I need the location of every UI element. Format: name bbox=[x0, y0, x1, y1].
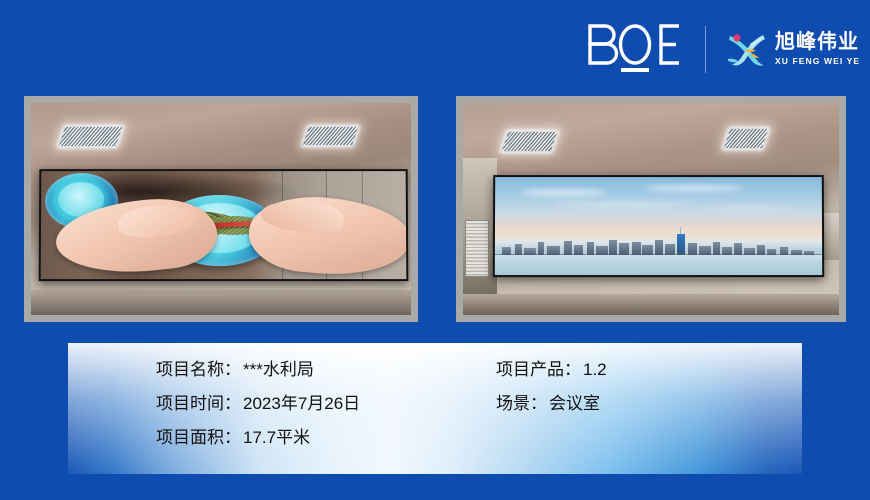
ceiling-light-icon bbox=[58, 126, 124, 147]
air-conditioner bbox=[465, 220, 490, 277]
room-floor bbox=[31, 290, 411, 315]
info-label: 场景： bbox=[496, 394, 547, 413]
photo-frame-left[interactable] bbox=[24, 96, 418, 322]
boe-wordmark-icon bbox=[585, 18, 685, 80]
screen-content-skyline bbox=[495, 177, 823, 274]
partner-name-cn: 旭峰伟业 bbox=[775, 31, 860, 53]
info-value: 17.7平米 bbox=[243, 428, 310, 447]
info-value: 2023年7月26日 bbox=[243, 394, 360, 413]
info-column-right: 项目产品：1.2 场景：会议室 bbox=[496, 359, 802, 474]
led-display-food-scene bbox=[31, 103, 411, 315]
info-label: 项目名称： bbox=[156, 360, 241, 379]
xufeng-bird-x-icon bbox=[724, 27, 768, 71]
tower-spire bbox=[680, 227, 681, 234]
screen-content-food bbox=[40, 171, 405, 279]
slide-canvas: 旭峰伟业 XU FENG WEI YE bbox=[0, 0, 870, 500]
boe-logo bbox=[585, 18, 685, 80]
logo-bar: 旭峰伟业 XU FENG WEI YE bbox=[585, 18, 847, 80]
led-screen bbox=[493, 175, 825, 276]
info-row: 项目面积：17.7平米 bbox=[156, 427, 496, 449]
logo-divider-icon bbox=[705, 26, 706, 73]
info-value: 会议室 bbox=[549, 394, 600, 413]
info-row: 项目产品：1.2 bbox=[496, 359, 802, 381]
info-value: 1.2 bbox=[583, 360, 607, 379]
ceiling-light-icon bbox=[723, 128, 769, 149]
info-row: 场景：会议室 bbox=[496, 393, 802, 415]
project-info-grid: 项目名称：***水利局 项目时间：2023年7月26日 项目面积：17.7平米 … bbox=[68, 343, 802, 474]
info-label: 项目产品： bbox=[496, 360, 581, 379]
info-label: 项目时间： bbox=[156, 394, 241, 413]
hand-right bbox=[246, 191, 408, 280]
partner-name-en: XU FENG WEI YE bbox=[775, 55, 860, 67]
info-value: ***水利局 bbox=[243, 360, 314, 379]
harbor-water bbox=[495, 255, 823, 275]
ceiling-light-icon bbox=[301, 126, 359, 146]
info-row: 项目时间：2023年7月26日 bbox=[156, 393, 496, 415]
led-display-skyline-scene bbox=[463, 103, 839, 315]
ceiling-light-icon bbox=[501, 131, 559, 152]
led-screen bbox=[38, 169, 408, 281]
info-row: 项目名称：***水利局 bbox=[156, 359, 496, 381]
photo-frame-right[interactable] bbox=[456, 96, 846, 322]
info-column-left: 项目名称：***水利局 项目时间：2023年7月26日 项目面积：17.7平米 bbox=[156, 359, 496, 474]
partner-text: 旭峰伟业 XU FENG WEI YE bbox=[775, 31, 860, 67]
project-info-panel: 项目名称：***水利局 项目时间：2023年7月26日 项目面积：17.7平米 … bbox=[68, 343, 802, 474]
room-floor bbox=[463, 294, 839, 315]
partner-logo: 旭峰伟业 XU FENG WEI YE bbox=[724, 27, 860, 71]
info-label: 项目面积： bbox=[156, 428, 241, 447]
